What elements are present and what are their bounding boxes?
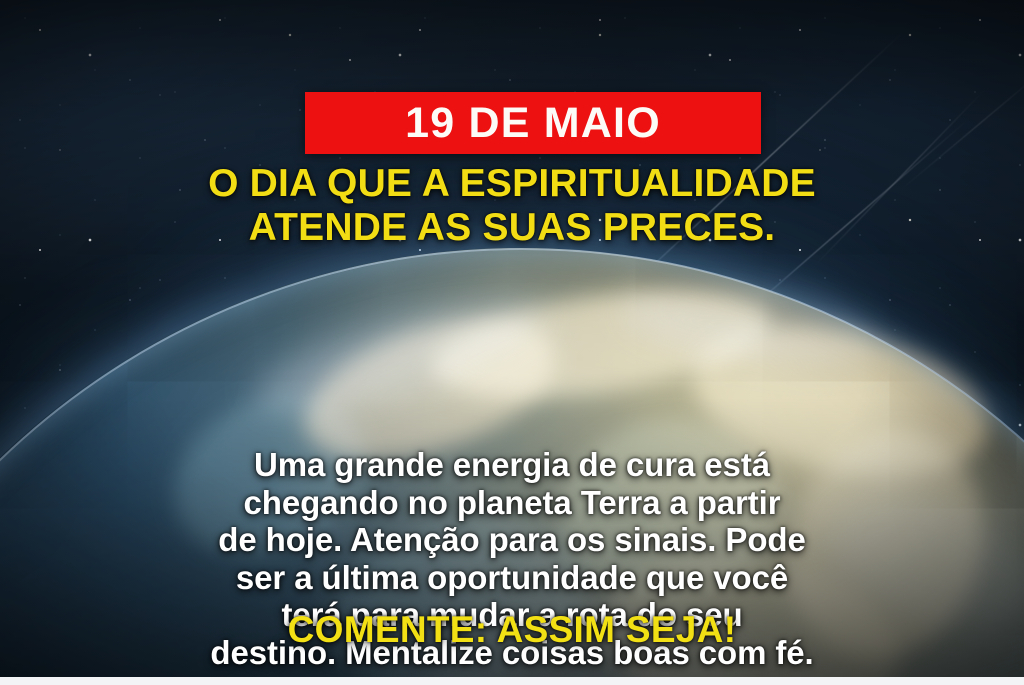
date-banner-text: 19 DE MAIO [405,102,661,145]
poster-content: 19 DE MAIO O DIA QUE A ESPIRITUALIDADE A… [0,0,1024,685]
headline-line-1: O DIA QUE A ESPIRITUALIDADE [0,162,1024,206]
headline: O DIA QUE A ESPIRITUALIDADE ATENDE AS SU… [0,162,1024,249]
body-line-4: ser a última oportunidade que você [50,559,974,597]
date-banner: 19 DE MAIO [305,92,761,154]
poster: 19 DE MAIO O DIA QUE A ESPIRITUALIDADE A… [0,0,1024,685]
bottom-strip [0,677,1024,685]
body-line-1: Uma grande energia de cura está [50,446,974,484]
headline-line-2: ATENDE AS SUAS PRECES. [0,206,1024,250]
body-line-3: de hoje. Atenção para os sinais. Pode [50,521,974,559]
cta-text: COMENTE: ASSIM SEJA! [0,611,1024,648]
body-line-2: chegando no planeta Terra a partir [50,484,974,522]
